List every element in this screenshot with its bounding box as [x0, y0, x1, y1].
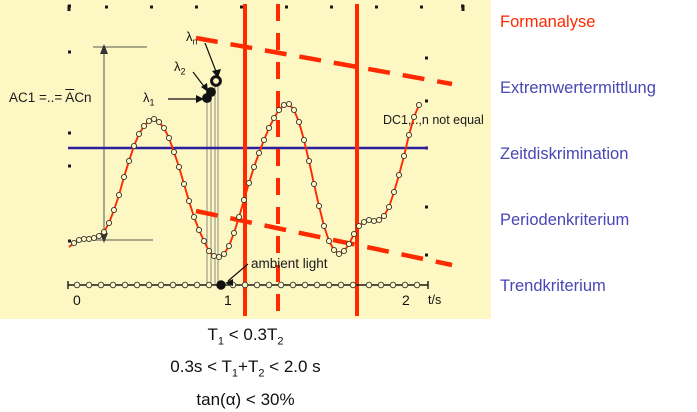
- right-border-ticks: [425, 58, 428, 255]
- axis-tick-label-2: 2: [402, 292, 410, 308]
- amplitude-arrow-up: [100, 44, 108, 54]
- axis-tick-label-1: 1: [224, 292, 232, 308]
- legend-item-periodenkriterium: Periodenkriterium: [500, 211, 629, 230]
- axis-unit-label: t/s: [428, 293, 441, 307]
- ambient-sample-point: [217, 281, 225, 289]
- amplitude-measure-bar: [93, 47, 153, 240]
- left-border-ticks: [68, 52, 71, 241]
- formula-line-2: 0.3s < T1+T2 < 2.0 s: [0, 354, 491, 386]
- criteria-legend: Formanalyse Extremwertermittlung Zeitdis…: [500, 0, 697, 319]
- dc-inequality-label: DC1,..,n not equal: [383, 114, 484, 127]
- legend-item-trendkriterium: Trendkriterium: [500, 277, 606, 296]
- plot-panel: AC1 =..= ACn DC1,..,n not equal ambient …: [0, 0, 491, 319]
- upper-envelope-line: [196, 38, 452, 84]
- criteria-formulas: T1 < 0.3T2 0.3s < T1+T2 < 2.0 s tan(α) <…: [0, 322, 491, 407]
- top-border-ticks: [68, 6, 464, 7]
- legend-item-formanalyse: Formanalyse: [500, 13, 595, 32]
- top-border-corner-ticks: [69, 5, 463, 11]
- formula-line-1: T1 < 0.3T2: [0, 322, 491, 354]
- axis-tick-label-0: 0: [73, 292, 81, 308]
- ambient-light-label: ambient light: [251, 257, 328, 271]
- slide-root: AC1 =..= ACn DC1,..,n not equal ambient …: [0, 0, 697, 407]
- lambda-2-label: λ2: [174, 59, 186, 77]
- signal-chart: [0, 0, 491, 319]
- lambda-1-label: λ1: [143, 90, 155, 108]
- sample-axis-markers: [74, 282, 420, 288]
- legend-item-zeitdiskrimination: Zeitdiskrimination: [500, 145, 628, 164]
- lambda-n-leader: [205, 43, 217, 74]
- ac-amplitude-label: AC1 =..= ACn: [9, 91, 92, 105]
- lambda-n-label: λn: [186, 29, 198, 47]
- formula-line-3: tan(α) < 30%: [0, 387, 491, 412]
- legend-item-extremwertermittlung: Extremwertermittlung: [500, 79, 656, 98]
